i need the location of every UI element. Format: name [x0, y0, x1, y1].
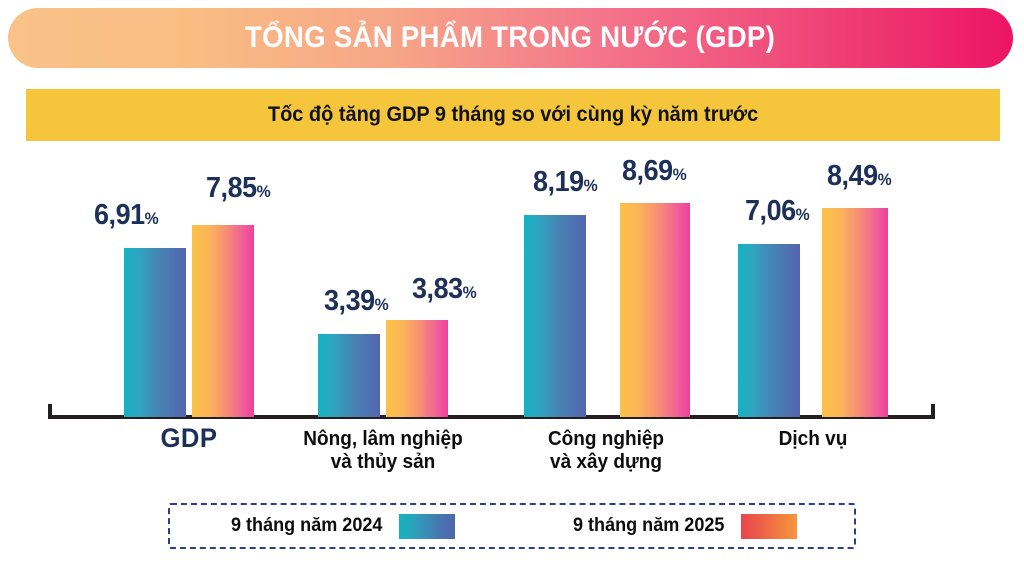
percent-sign: %: [673, 165, 687, 184]
value-label-services-2024: 7,06%: [745, 195, 809, 228]
percent-sign: %: [145, 209, 159, 228]
chart-legend: 9 tháng năm 2024 9 tháng năm 2025: [168, 503, 856, 549]
bar-services-2025: [822, 208, 888, 417]
legend-item-2025: 9 tháng năm 2025: [569, 514, 797, 539]
category-line-1: Dịch vụ: [718, 428, 908, 451]
value-number: 3,39: [324, 285, 375, 317]
value-number: 6,91: [94, 199, 145, 231]
bar-gdp-2025: [192, 225, 254, 417]
category-line-1: GDP: [94, 427, 284, 450]
value-number: 8,19: [533, 166, 584, 198]
percent-sign: %: [257, 182, 271, 201]
category-label-industry: Công nghiệp và xây dựng: [511, 428, 701, 474]
bar-agriculture-2024: [318, 334, 380, 417]
legend-item-2024: 9 tháng năm 2024: [227, 514, 455, 539]
percent-sign: %: [878, 170, 892, 189]
legend-label-2025: 9 tháng năm 2025: [573, 515, 724, 537]
bar-chart: 6,91% 7,85% GDP 3,39% 3,83% Nông, lâm ng…: [0, 0, 1024, 577]
percent-sign: %: [796, 205, 810, 224]
value-number: 7,06: [745, 195, 796, 227]
bar-gdp-2024: [124, 248, 186, 417]
value-label-gdp-2024: 6,91%: [94, 199, 158, 232]
value-label-industry-2024: 8,19%: [533, 166, 597, 199]
category-line-1: Nông, lâm nghiệp: [288, 428, 478, 451]
percent-sign: %: [463, 283, 477, 302]
percent-sign: %: [584, 176, 598, 195]
value-number: 8,49: [827, 160, 878, 192]
legend-swatch-2024: [399, 514, 455, 539]
x-axis-tick-left: [48, 404, 52, 417]
value-number: 3,83: [412, 273, 463, 305]
value-label-agriculture-2024: 3,39%: [324, 285, 388, 318]
category-line-2: và thủy sản: [288, 451, 478, 474]
legend-swatch-2025: [741, 514, 797, 539]
value-label-agriculture-2025: 3,83%: [412, 273, 476, 306]
category-label-agriculture: Nông, lâm nghiệp và thủy sản: [288, 428, 478, 474]
x-axis-tick-right: [931, 404, 935, 417]
legend-label-2024: 9 tháng năm 2024: [231, 515, 382, 537]
value-number: 8,69: [622, 155, 673, 187]
value-number: 7,85: [206, 172, 257, 204]
bar-services-2024: [738, 244, 800, 417]
category-line-2: và xây dựng: [511, 451, 701, 474]
value-label-services-2025: 8,49%: [827, 160, 891, 193]
bar-agriculture-2025: [386, 320, 448, 417]
value-label-gdp-2025: 7,85%: [206, 172, 270, 205]
category-line-1: Công nghiệp: [511, 428, 701, 451]
bar-industry-2025: [620, 203, 690, 417]
infographic-page: TỔNG SẢN PHẨM TRONG NƯỚC (GDP) Tốc độ tă…: [0, 0, 1024, 577]
value-label-industry-2025: 8,69%: [622, 155, 686, 188]
category-label-gdp: GDP: [94, 427, 284, 450]
category-label-services: Dịch vụ: [718, 428, 908, 451]
percent-sign: %: [375, 295, 389, 314]
bar-industry-2024: [524, 215, 586, 417]
